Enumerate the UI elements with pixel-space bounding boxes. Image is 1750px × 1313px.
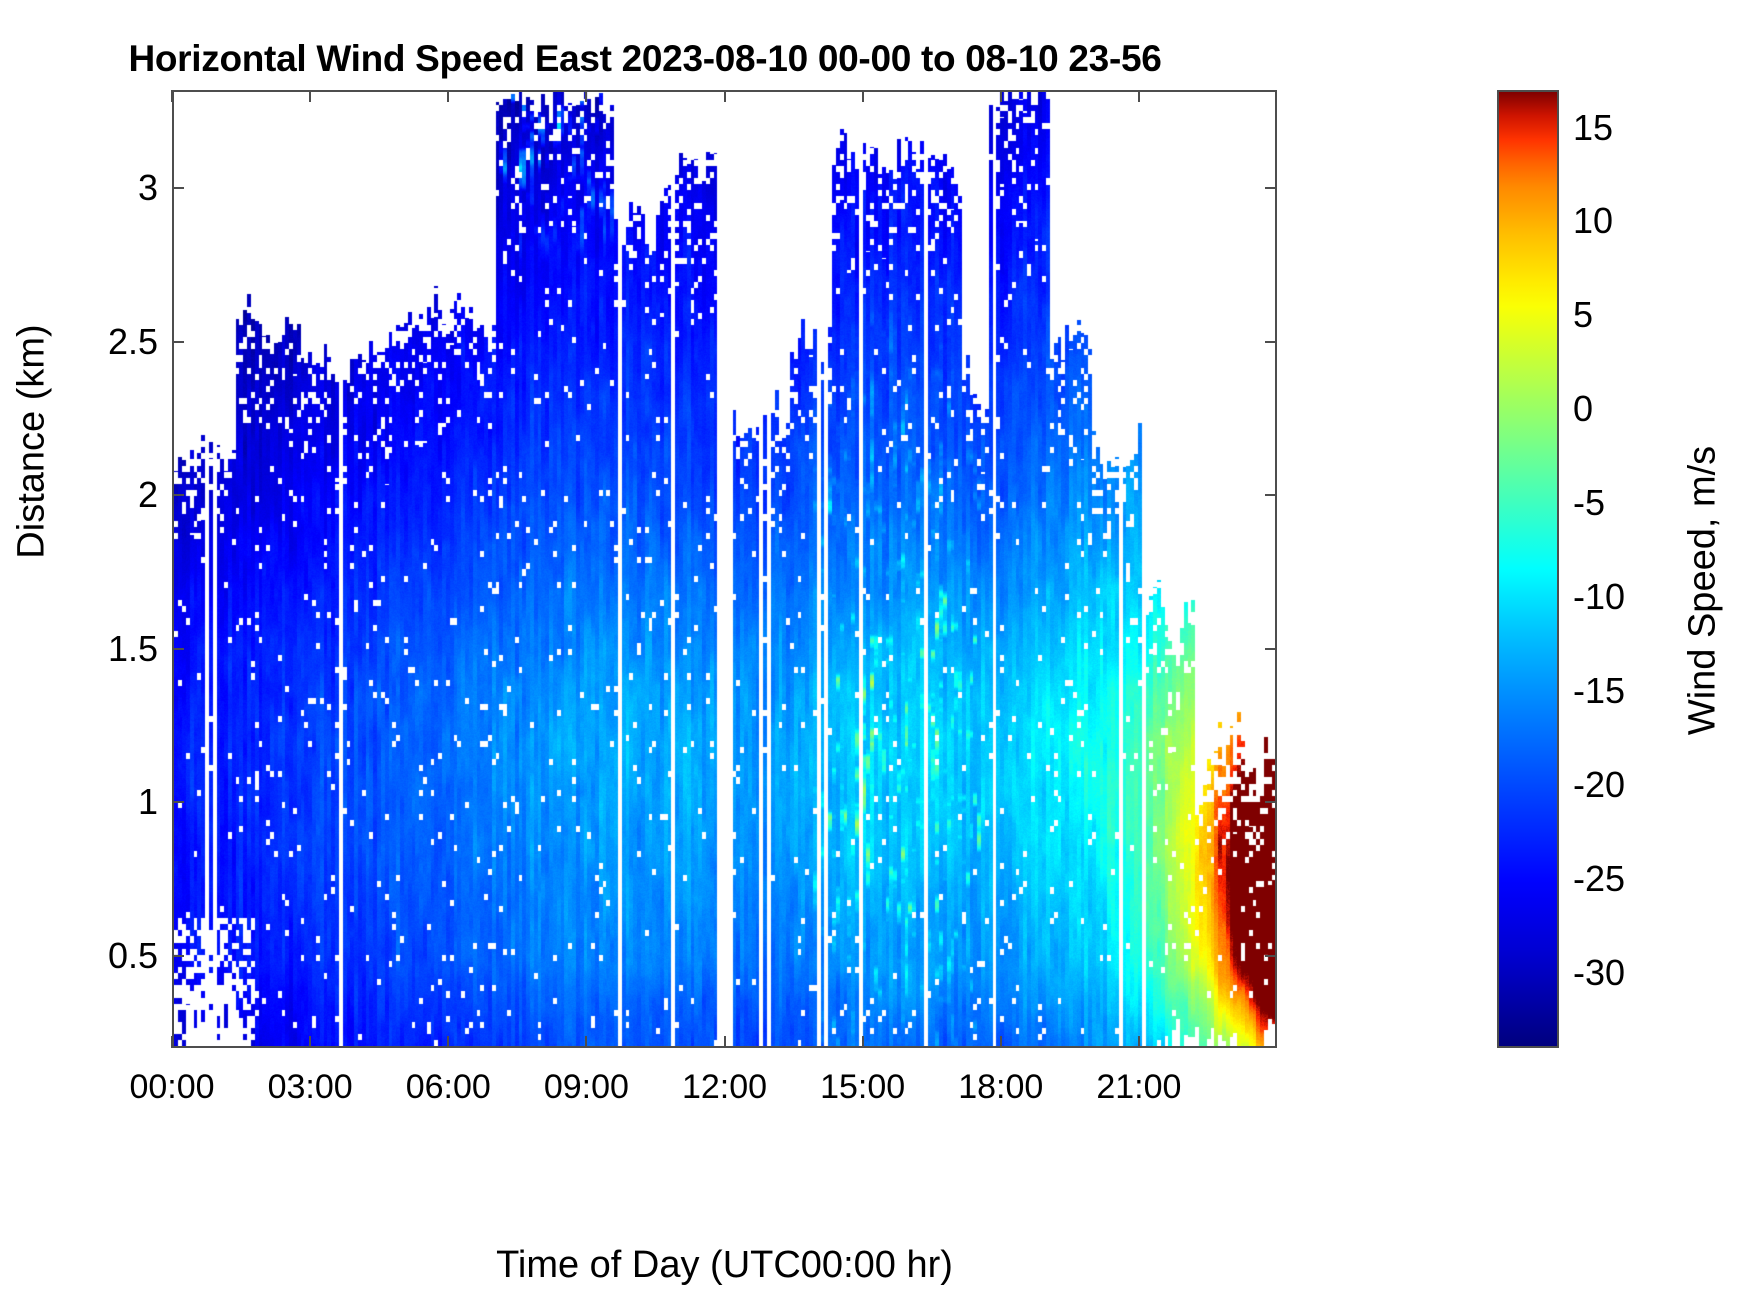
- y-axis-tick: [172, 341, 184, 343]
- x-axis-tick-label: 06:00: [406, 1068, 491, 1107]
- y-axis-tick-right: [1265, 187, 1277, 189]
- y-axis-tick-label: 2: [138, 474, 158, 516]
- x-axis-tick-label: 12:00: [682, 1068, 767, 1107]
- y-axis-tick: [172, 494, 184, 496]
- y-axis-tick-right: [1265, 341, 1277, 343]
- x-axis-tick: [862, 1036, 864, 1048]
- colorbar-tick-label: 5: [1573, 294, 1593, 336]
- colorbar-tick-label: 10: [1573, 200, 1613, 242]
- colorbar: [1497, 90, 1559, 1048]
- x-axis-tick: [447, 1036, 449, 1048]
- y-axis-tick-label: 1: [138, 781, 158, 823]
- x-axis-label: Time of Day (UTC00:00 hr): [172, 1244, 1277, 1287]
- colorbar-label: Wind Speed, m/s: [1682, 381, 1725, 801]
- x-axis-tick-top: [171, 90, 173, 102]
- y-axis-tick-right: [1265, 955, 1277, 957]
- x-axis-tick: [1138, 1036, 1140, 1048]
- colorbar-tick-label: -20: [1573, 764, 1625, 806]
- x-axis-tick-label: 15:00: [820, 1068, 905, 1107]
- x-axis-tick-label: 09:00: [544, 1068, 629, 1107]
- colorbar-gradient: [1499, 92, 1557, 1046]
- x-axis-tick: [585, 1036, 587, 1048]
- x-axis-tick: [309, 1036, 311, 1048]
- colorbar-tick-label: -30: [1573, 952, 1625, 994]
- x-axis-tick-top: [309, 90, 311, 102]
- colorbar-tick-label: -15: [1573, 670, 1625, 712]
- y-axis-tick: [172, 648, 184, 650]
- wind-speed-figure: Horizontal Wind Speed East 2023-08-10 00…: [0, 0, 1750, 1313]
- colorbar-tick-label: -10: [1573, 576, 1625, 618]
- x-axis-tick: [724, 1036, 726, 1048]
- x-axis-tick: [171, 1036, 173, 1048]
- y-axis-tick-label: 1.5: [108, 628, 158, 670]
- colorbar-tick-label: -25: [1573, 858, 1625, 900]
- x-axis-tick-label: 18:00: [958, 1068, 1043, 1107]
- y-axis-label: Distance (km): [11, 232, 54, 652]
- y-axis-tick-right: [1265, 494, 1277, 496]
- x-axis-tick-label: 03:00: [268, 1068, 353, 1107]
- y-axis-tick: [172, 187, 184, 189]
- y-axis-tick-label: 3: [138, 167, 158, 209]
- x-axis-tick-top: [862, 90, 864, 102]
- x-axis-tick-top: [1138, 90, 1140, 102]
- colorbar-tick-label: -5: [1573, 482, 1605, 524]
- x-axis-tick-top: [1000, 90, 1002, 102]
- x-axis-tick-label: 21:00: [1096, 1068, 1181, 1107]
- x-axis-tick-top: [447, 90, 449, 102]
- y-axis-tick-right: [1265, 801, 1277, 803]
- y-axis-tick-right: [1265, 648, 1277, 650]
- y-axis-tick-label: 2.5: [108, 321, 158, 363]
- y-axis-tick: [172, 955, 184, 957]
- x-axis-tick-label: 00:00: [129, 1068, 214, 1107]
- x-axis-tick-top: [724, 90, 726, 102]
- y-axis-tick-label: 0.5: [108, 935, 158, 977]
- heatmap-canvas: [174, 92, 1275, 1046]
- colorbar-tick-label: 15: [1573, 107, 1613, 149]
- x-axis-tick: [1000, 1036, 1002, 1048]
- y-axis-tick: [172, 801, 184, 803]
- page-title: Horizontal Wind Speed East 2023-08-10 00…: [0, 38, 1290, 80]
- plot-area: [172, 90, 1277, 1048]
- colorbar-tick-label: 0: [1573, 388, 1593, 430]
- x-axis-tick-top: [585, 90, 587, 102]
